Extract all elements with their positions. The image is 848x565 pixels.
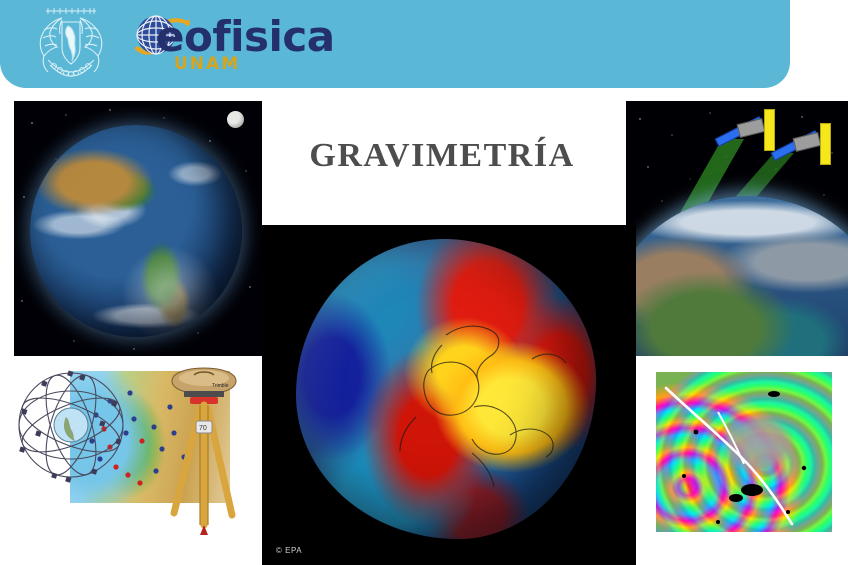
unam-shield-logo: Escudo UNAM: águila y cóndor sobre mapa …	[32, 4, 110, 86]
grace-satellite-mission-illustration	[626, 101, 848, 356]
earth-globe	[30, 125, 242, 337]
grace-satellite-1	[714, 109, 776, 155]
blue-marble-earth-photo	[14, 101, 262, 356]
gps-satellite-constellation	[12, 365, 130, 485]
gps-geodesy-collage: Trimble 70 CABL Coordinate Time Series	[0, 357, 250, 565]
moon-icon	[227, 111, 244, 128]
title-card: GRAVIMETRÍA	[262, 101, 622, 225]
geoid-model-render: © EPA	[262, 225, 636, 565]
svg-text:70: 70	[199, 425, 207, 432]
svg-text:Trimble: Trimble	[212, 383, 229, 389]
grace-satellite-2	[770, 123, 832, 169]
satellite-body	[793, 132, 822, 152]
unam-shield-caption: Escudo UNAM: águila y cóndor sobre mapa …	[32, 86, 33, 87]
geoid-coastlines	[296, 239, 596, 539]
page-title: GRAVIMETRÍA	[262, 137, 622, 175]
geofisica-wordmark: eofisica	[156, 15, 335, 59]
geofisica-unam-subtitle: UNAM	[174, 55, 240, 73]
satellite-body	[737, 118, 766, 138]
insar-interferogram	[656, 372, 832, 532]
geofisica-logo: eofisica UNAM	[126, 11, 306, 79]
interferogram-fringes	[656, 372, 832, 532]
trimble-gnss-antenna-tripod: Trimble 70	[166, 365, 242, 537]
solar-panel-yellow	[820, 123, 831, 165]
header-band: Escudo UNAM: águila y cóndor sobre mapa …	[0, 0, 790, 88]
image-credit: © EPA	[276, 546, 302, 555]
